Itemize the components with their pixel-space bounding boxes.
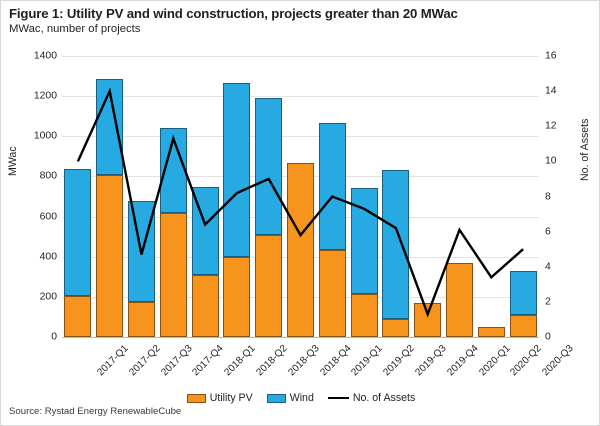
x-axis-tick-label: 2018-Q4	[318, 343, 353, 378]
x-axis-tick-label: 2020-Q2	[509, 343, 544, 378]
bar-segment-utility-pv	[64, 296, 91, 337]
legend-item: No. of Assets	[328, 392, 415, 404]
legend-color-swatch-icon	[187, 394, 206, 403]
gridline	[62, 136, 539, 137]
legend-item-label: No. of Assets	[353, 392, 415, 404]
y-axis-left-tick-label: 800	[3, 171, 57, 182]
page-title: Figure 1: Utility PV and wind constructi…	[9, 6, 458, 21]
y-axis-right-tick-label: 12	[545, 121, 585, 132]
x-axis-tick-label: 2017-Q2	[127, 343, 162, 378]
y-axis-left-tick-label: 1400	[3, 51, 57, 62]
x-axis-baseline	[62, 337, 539, 338]
bar-segment-utility-pv	[414, 303, 441, 337]
y-axis-right-tick-label: 14	[545, 86, 585, 97]
bar-segment-wind	[510, 271, 537, 315]
bar-segment-wind	[223, 83, 250, 257]
bar-segment-utility-pv	[96, 175, 123, 337]
source-note: Source: Rystad Energy RenewableCube	[9, 406, 181, 417]
x-axis-tick-label: 2017-Q4	[191, 343, 226, 378]
bar-segment-utility-pv	[160, 213, 187, 337]
bar-segment-wind	[128, 201, 155, 302]
bar-segment-utility-pv	[382, 319, 409, 337]
x-axis-tick-label: 2017-Q1	[95, 343, 130, 378]
bar-segment-utility-pv	[128, 302, 155, 337]
x-axis-tick-label: 2019-Q4	[445, 343, 480, 378]
x-axis-tick-label: 2019-Q1	[350, 343, 385, 378]
y-axis-left-tick-label: 1000	[3, 131, 57, 142]
bar-segment-utility-pv	[510, 315, 537, 337]
x-axis-tick-label: 2019-Q3	[413, 343, 448, 378]
bar-segment-utility-pv	[255, 235, 282, 337]
bar-segment-utility-pv	[192, 275, 219, 337]
x-axis-tick-label: 2017-Q3	[159, 343, 194, 378]
y-axis-left-tick-label: 0	[3, 332, 57, 343]
gridline	[62, 96, 539, 97]
y-axis-right-tick-label: 10	[545, 156, 585, 167]
bar-segment-wind	[192, 187, 219, 274]
x-axis-tick-label: 2020-Q1	[477, 343, 512, 378]
legend-color-swatch-icon	[267, 394, 286, 403]
bar-segment-wind	[351, 188, 378, 293]
y-axis-right-tick-label: 4	[545, 261, 585, 272]
bar-segment-wind	[160, 128, 187, 212]
chart-subtitle: MWac, number of projects	[9, 23, 140, 35]
y-axis-right-tick-label: 0	[545, 332, 585, 343]
chart-figure: Figure 1: Utility PV and wind constructi…	[0, 0, 600, 426]
bar-segment-utility-pv	[223, 257, 250, 337]
bar-segment-wind	[319, 123, 346, 249]
bar-segment-wind	[382, 170, 409, 319]
gridline	[62, 56, 539, 57]
bar-segment-wind	[64, 169, 91, 295]
bar-segment-wind	[96, 79, 123, 175]
legend-item-label: Wind	[290, 392, 314, 404]
bar-segment-utility-pv	[446, 263, 473, 337]
x-axis-tick-label: 2018-Q1	[222, 343, 257, 378]
x-axis-labels: 2017-Q12017-Q22017-Q32017-Q42018-Q12018-…	[62, 341, 539, 389]
y-axis-left-tick-label: 400	[3, 251, 57, 262]
x-axis-tick-label: 2018-Q2	[254, 343, 289, 378]
legend-line-swatch-icon	[328, 397, 349, 399]
x-axis-tick-label: 2019-Q2	[381, 343, 416, 378]
x-axis-tick-label: 2020-Q3	[540, 343, 575, 378]
y-axis-left-tick-label: 600	[3, 211, 57, 222]
y-axis-left-tick-label: 1200	[3, 91, 57, 102]
y-axis-right-tick-label: 2	[545, 296, 585, 307]
legend-item: Utility PV	[187, 392, 253, 404]
y-axis-right-tick-label: 8	[545, 191, 585, 202]
legend-item-label: Utility PV	[210, 392, 253, 404]
bar-segment-utility-pv	[351, 294, 378, 337]
chart-legend: Utility PVWindNo. of Assets	[1, 389, 600, 407]
legend-item: Wind	[267, 392, 314, 404]
y-axis-right-tick-label: 6	[545, 226, 585, 237]
bar-segment-utility-pv	[287, 163, 314, 337]
plot-area: 0200400600800100012001400 0246810121416	[62, 56, 539, 337]
y-axis-left-tick-label: 200	[3, 291, 57, 302]
bar-segment-wind	[255, 98, 282, 234]
bar-segment-utility-pv	[478, 327, 505, 337]
bar-segment-utility-pv	[319, 250, 346, 337]
y-axis-right-tick-label: 16	[545, 51, 585, 62]
x-axis-tick-label: 2018-Q3	[286, 343, 321, 378]
